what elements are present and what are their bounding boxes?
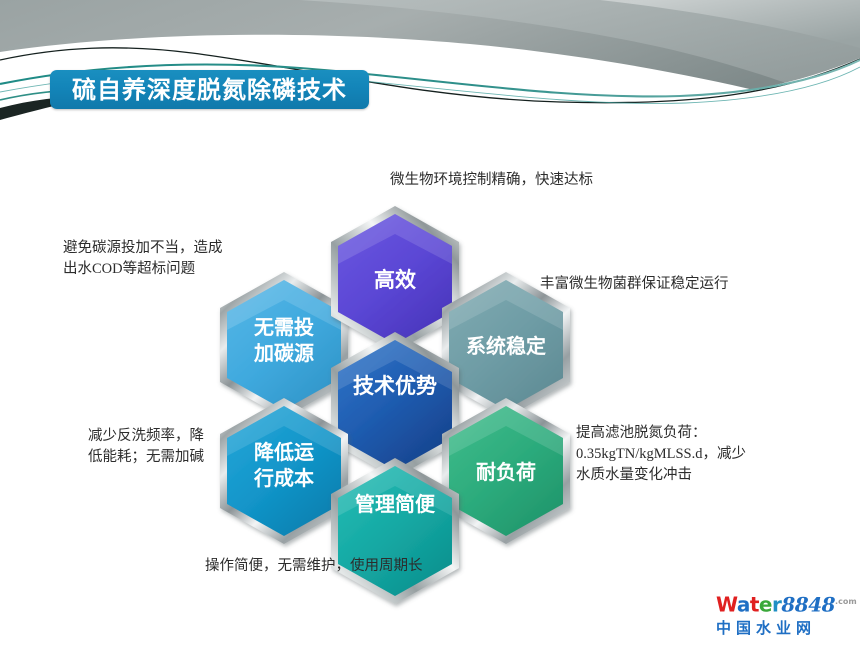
hex-label-jiangdi-line1: 降低运 — [254, 440, 314, 464]
logo-tld: .com — [835, 597, 857, 606]
hex-guanli[interactable] — [331, 458, 459, 604]
logo-chinese-name: 中国水业网 — [716, 617, 857, 638]
annotation-left-top: 避免碳源投加不当，造成 出水COD等超标问题 — [63, 238, 223, 280]
hex-label-guanli: 管理简便 — [355, 492, 436, 516]
hex-center[interactable] — [331, 332, 459, 478]
logo-letter-t: t — [750, 593, 759, 617]
hex-label-wuxutou-line1: 无需投 — [254, 315, 314, 339]
annotation-left-bottom: 减少反洗频率，降 低能耗；无需加碱 — [62, 426, 204, 468]
hex-label-wuxutou-line2: 加碳源 — [253, 341, 314, 365]
hex-label-jiangdi-line2: 行成本 — [253, 466, 314, 490]
logo-letter-w: W — [716, 593, 737, 617]
logo-letter-r: r — [772, 593, 781, 617]
logo-wordmark: Water8848.com — [716, 592, 857, 615]
slide-title-bar: 硫自养深度脱氮除磷技术 — [50, 70, 369, 109]
logo-letter-a: a — [737, 593, 750, 617]
annotation-right-top: 丰富微生物菌群保证稳定运行 — [540, 274, 729, 295]
annotation-right-bottom: 提高滤池脱氮负荷： 0.35kgTN/kgMLSS.d，减少 水质水量变化冲击 — [576, 423, 746, 486]
site-logo[interactable]: Water8848.com 中国水业网 — [716, 592, 857, 638]
hex-label-gaoxiao: 高效 — [374, 268, 416, 292]
annotation-top: 微生物环境控制精确，快速达标 — [390, 170, 593, 191]
logo-letter-e: e — [759, 593, 772, 617]
hex-label-naifuhe: 耐负荷 — [476, 460, 536, 484]
logo-number: 8848 — [781, 593, 835, 617]
slide-canvas: 硫自养深度脱氮除磷技术 — [0, 0, 860, 645]
hex-label-xitongwending: 系统稳定 — [466, 334, 546, 358]
hex-label-center: 技术优势 — [353, 374, 437, 398]
page-title: 硫自养深度脱氮除磷技术 — [72, 78, 347, 102]
annotation-bottom: 操作简便，无需维护，使用周期长 — [205, 556, 423, 577]
